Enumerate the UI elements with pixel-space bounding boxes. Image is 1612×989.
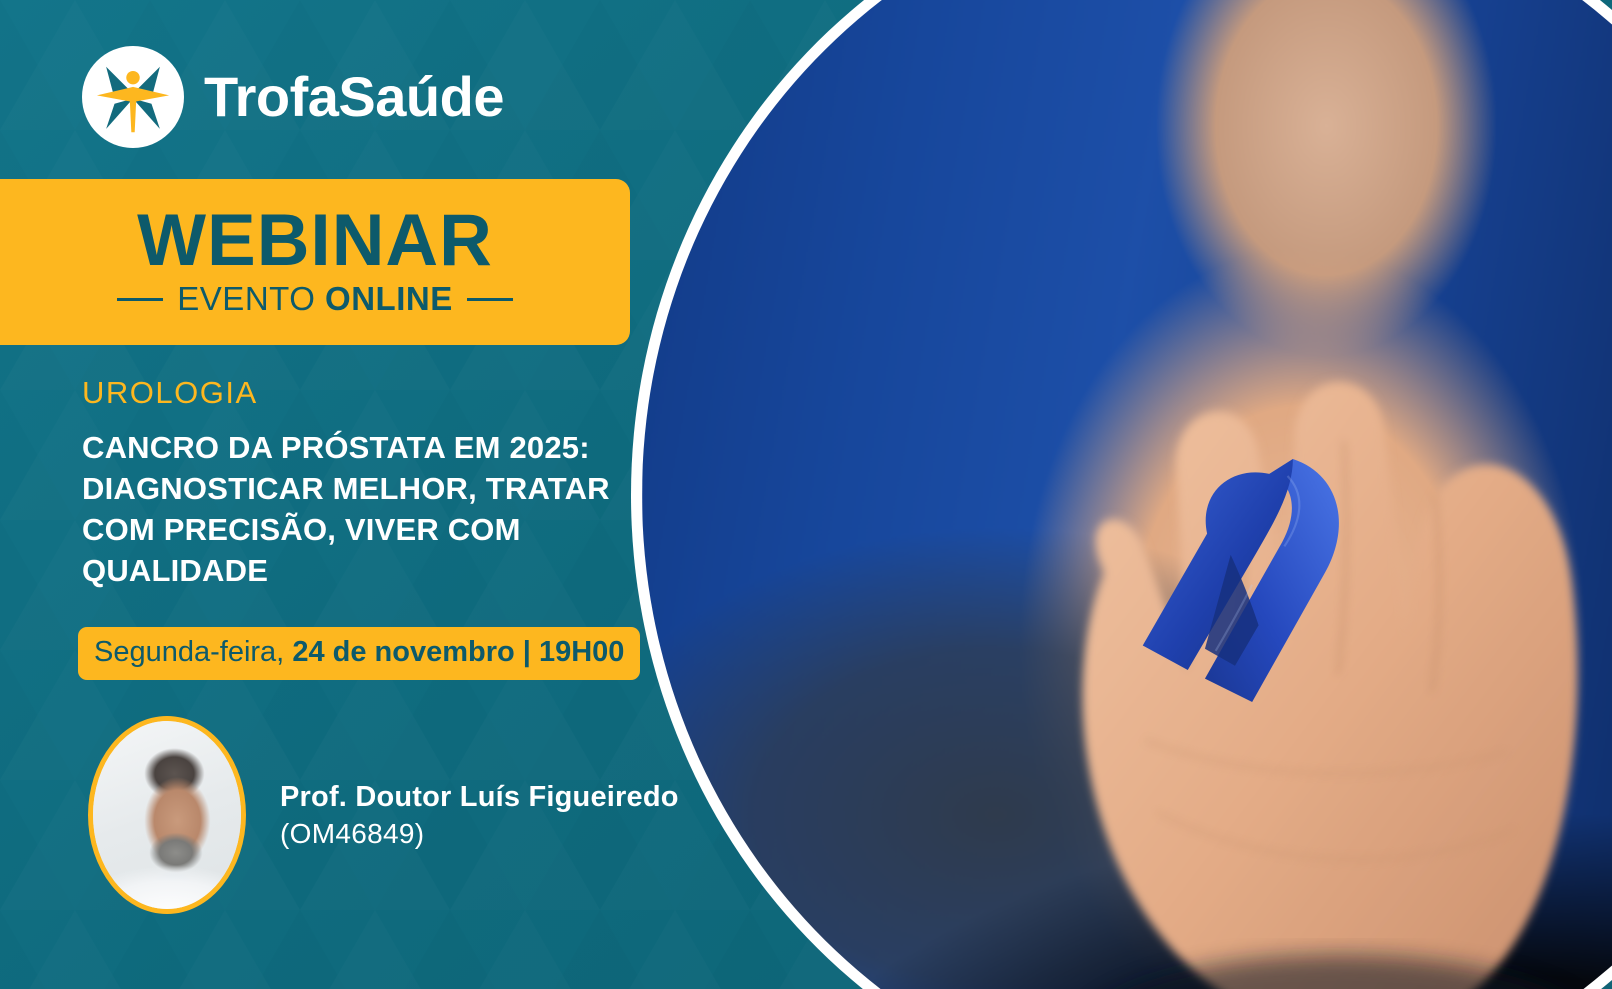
- webinar-title: WEBINAR: [137, 206, 493, 275]
- specialty-label: UROLOGIA: [82, 375, 258, 411]
- event-title: CANCRO DA PRÓSTATA EM 2025: DIAGNOSTICAR…: [82, 428, 642, 592]
- speaker-block: Prof. Doutor Luís Figueiredo (OM46849): [88, 716, 679, 914]
- webinar-poster: TrofaSaúde WEBINAR EVENTO ONLINE UROLOGI…: [0, 0, 1612, 989]
- webinar-subtitle-light: EVENTO: [177, 280, 325, 317]
- webinar-subtitle-row: EVENTO ONLINE: [117, 280, 512, 318]
- hero-photo: [642, 0, 1612, 989]
- starburst-person-icon: [82, 46, 184, 148]
- dash-left-icon: [117, 298, 163, 301]
- speaker-name: Prof. Doutor Luís Figueiredo: [280, 779, 679, 816]
- brand-name: TrofaSaúde: [204, 69, 504, 125]
- speaker-registration: (OM46849): [280, 816, 679, 852]
- dash-right-icon: [467, 298, 513, 301]
- webinar-subtitle: EVENTO ONLINE: [177, 280, 452, 318]
- speaker-info: Prof. Doutor Luís Figueiredo (OM46849): [280, 779, 679, 852]
- date-weekday: Segunda-feira,: [94, 636, 292, 668]
- webinar-subtitle-bold: ONLINE: [325, 280, 453, 317]
- date-main: 24 de novembro | 19H00: [292, 636, 624, 668]
- event-date-badge: Segunda-feira, 24 de novembro | 19H00: [78, 627, 640, 680]
- speaker-avatar: [88, 716, 246, 914]
- webinar-banner: WEBINAR EVENTO ONLINE: [0, 179, 630, 345]
- brand-logo[interactable]: TrofaSaúde: [82, 46, 504, 148]
- awareness-ribbon-icon: [1132, 427, 1368, 747]
